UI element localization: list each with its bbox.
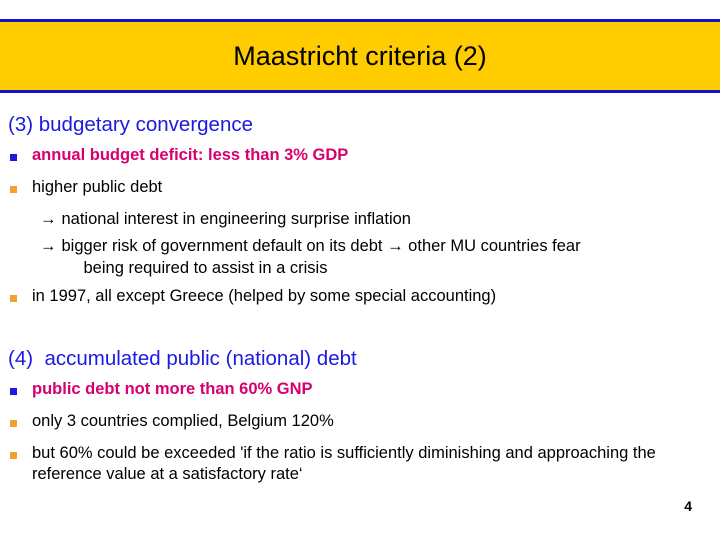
slide: Maastricht criteria (2) (3) budgetary co…	[0, 0, 720, 540]
square-bullet-icon	[10, 388, 17, 395]
sub-bullet-item-national-interest: → national interest in engineering surpr…	[0, 209, 720, 231]
arrow-right-icon: →	[40, 236, 62, 258]
spacer-between-sections	[0, 312, 720, 346]
bullet-text: annual budget deficit: less than 3% GDP	[32, 145, 720, 166]
sub-bullet-item-bigger-risk: → bigger risk of government default on i…	[0, 236, 720, 280]
bullet-marker-orange-square	[0, 443, 32, 469]
bullet-marker-blue-square	[0, 145, 32, 171]
slide-body: (3) budgetary convergence annual budget …	[0, 112, 720, 485]
bullet-item-annual-budget-deficit: annual budget deficit: less than 3% GDP	[0, 145, 720, 171]
bullet-marker-orange-square	[0, 411, 32, 437]
page-number: 4	[684, 498, 692, 514]
bullet-marker-blue-square	[0, 379, 32, 405]
section-heading-3: (3) budgetary convergence	[0, 112, 720, 139]
bullet-marker-orange-square	[0, 286, 32, 312]
page-title: Maastricht criteria (2)	[233, 41, 487, 72]
bullet-item-public-debt-limit: public debt not more than 60% GNP	[0, 379, 720, 405]
title-banner: Maastricht criteria (2)	[0, 19, 720, 93]
bullet-item-only-3-countries: only 3 countries complied, Belgium 120%	[0, 411, 720, 437]
square-bullet-icon	[10, 186, 17, 193]
square-bullet-icon	[10, 452, 17, 459]
bullet-item-in-1997: in 1997, all except Greece (helped by so…	[0, 286, 720, 312]
bullet-item-higher-public-debt: higher public debt	[0, 177, 720, 203]
sub-bullet-text: national interest in engineering surpris…	[62, 209, 720, 231]
sub-bullet-text-line2: being required to assist in a crisis	[62, 258, 703, 280]
square-bullet-icon	[10, 295, 17, 302]
bullet-text: only 3 countries complied, Belgium 120%	[32, 411, 720, 432]
sub-bullet-text-block: bigger risk of government default on its…	[62, 236, 720, 280]
square-bullet-icon	[10, 154, 17, 161]
bullet-text: public debt not more than 60% GNP	[32, 379, 720, 400]
square-bullet-icon	[10, 420, 17, 427]
sub-bullet-text-line1: bigger risk of government default on its…	[62, 237, 581, 255]
bullet-marker-orange-square	[0, 177, 32, 203]
arrow-right-icon: →	[40, 209, 62, 231]
bullet-text: but 60% could be exceeded 'if the ratio …	[32, 443, 720, 486]
section-heading-4: (4) accumulated public (national) debt	[0, 346, 720, 373]
bullet-text: higher public debt	[32, 177, 720, 198]
bullet-text: in 1997, all except Greece (helped by so…	[32, 286, 720, 307]
bullet-item-but-60-percent: but 60% could be exceeded 'if the ratio …	[0, 443, 720, 486]
